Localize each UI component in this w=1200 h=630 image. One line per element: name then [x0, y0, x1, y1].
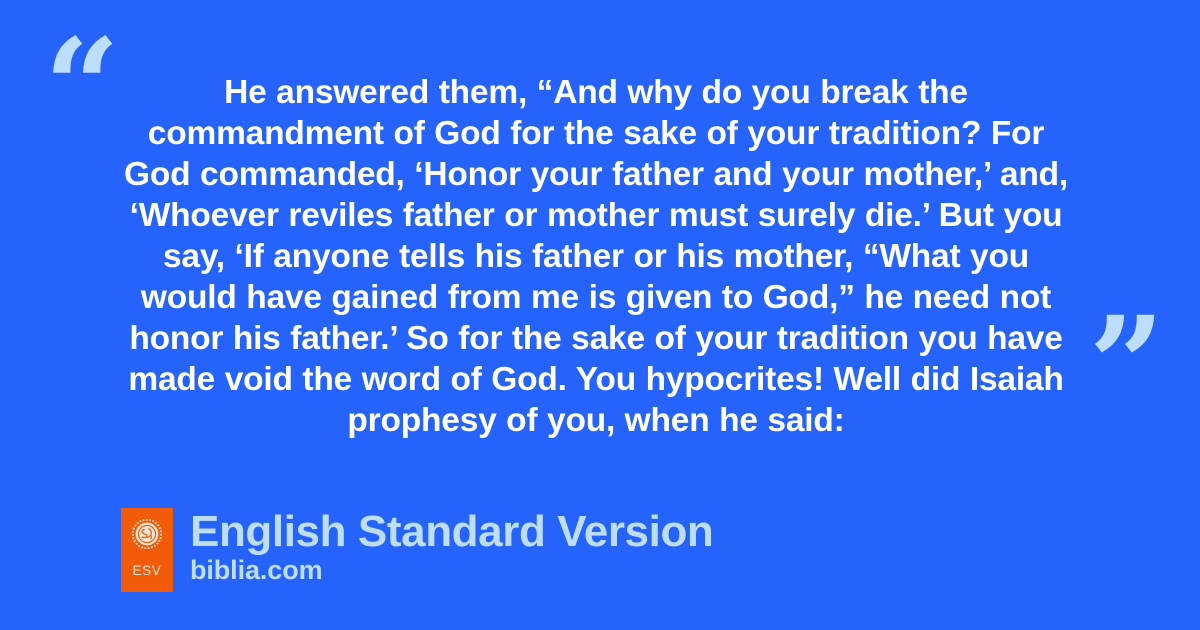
site-url: biblia.com	[190, 555, 713, 585]
esv-logo-label: ESV	[133, 564, 162, 578]
bible-verse-card: “ He answered them, “And why do you brea…	[0, 0, 1200, 630]
esv-seal-icon	[132, 519, 162, 549]
esv-logo-badge: ESV	[121, 508, 173, 592]
close-quote-icon: ”	[1089, 300, 1162, 432]
translation-name: English Standard Version	[190, 508, 713, 555]
open-quote-icon: “	[44, 22, 117, 154]
brand-text-group: English Standard Version biblia.com	[190, 508, 713, 585]
verse-text: He answered them, “And why do you break …	[112, 72, 1080, 441]
quote-block: He answered them, “And why do you break …	[112, 72, 1080, 441]
brand-footer: ESV English Standard Version biblia.com	[121, 508, 713, 592]
